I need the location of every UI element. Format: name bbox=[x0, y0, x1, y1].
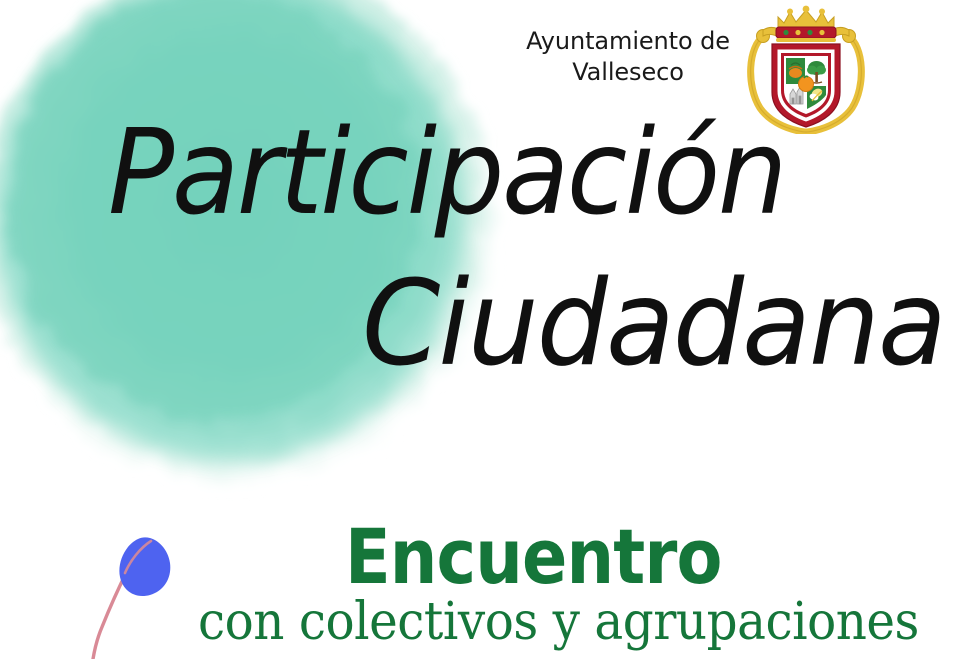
municipality-line-2: Valleseco bbox=[512, 57, 744, 88]
page-title-line-1: Participación bbox=[108, 103, 785, 241]
event-subheading: con colectivos y agrupaciones bbox=[198, 592, 919, 652]
event-heading: Encuentro bbox=[345, 512, 722, 601]
poster-canvas: Ayuntamiento de Valleseco bbox=[0, 0, 968, 659]
page-title-line-2: Ciudadana bbox=[362, 254, 945, 392]
municipality-line-1: Ayuntamiento de bbox=[512, 26, 744, 57]
blue-balloon-icon bbox=[72, 515, 212, 659]
municipality-name: Ayuntamiento de Valleseco bbox=[512, 26, 744, 87]
